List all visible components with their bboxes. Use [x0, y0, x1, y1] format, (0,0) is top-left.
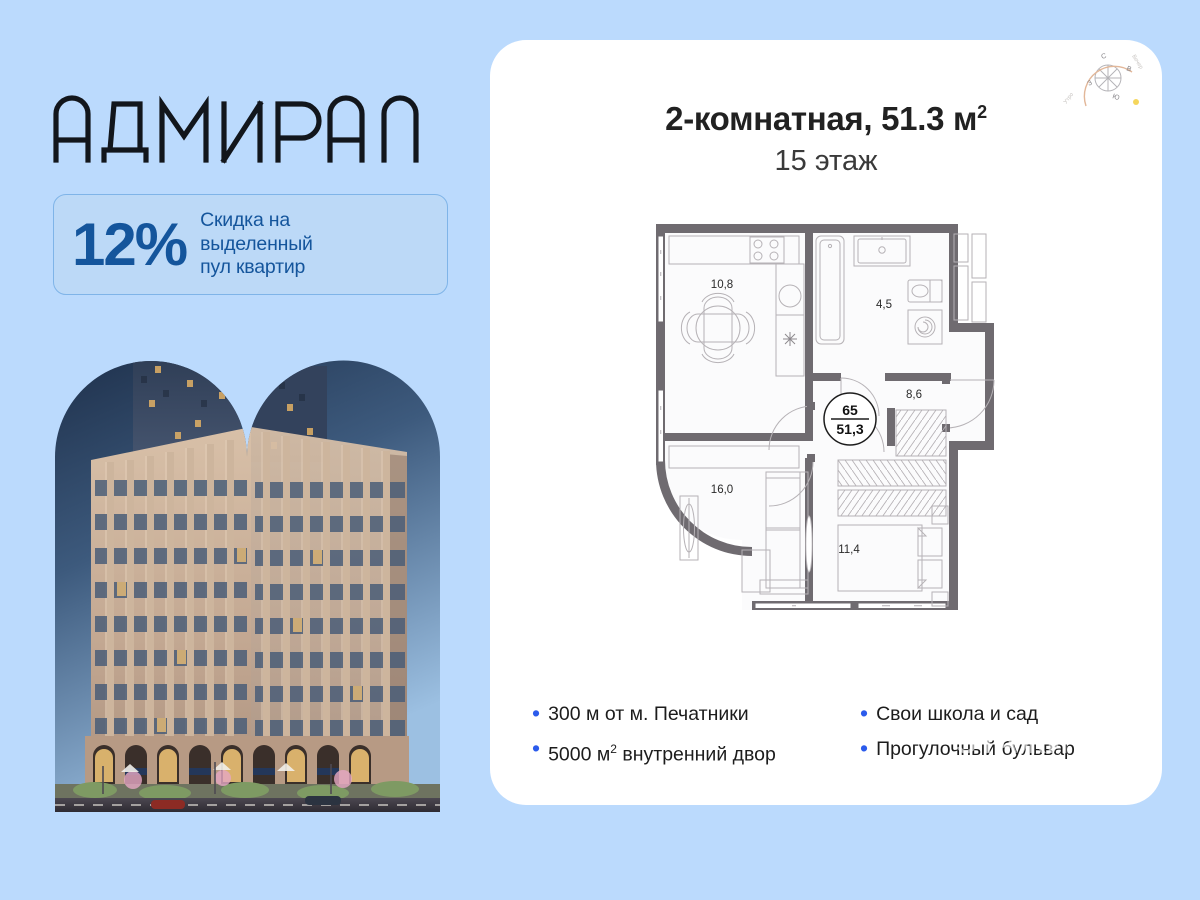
- plan-title-text: 2-комнатная, 51.3 м: [665, 100, 977, 137]
- compass-label-evening: Вечер: [1130, 54, 1143, 71]
- feature-text: 300 м от м. Печатники: [548, 703, 749, 725]
- apartment-badge: 65 51,3: [824, 393, 876, 445]
- bullet-icon: •: [860, 703, 868, 723]
- discount-percent: 12%: [72, 215, 186, 275]
- discount-description: Скидка на выделенный пул квартир: [200, 209, 313, 280]
- discount-line-1: Скидка на: [200, 209, 290, 231]
- room-area-bathroom: 4,5: [876, 299, 892, 311]
- room-area-bedroom: 11,4: [838, 544, 860, 556]
- floorplan-drawing: 10,8 4,5 8,6 16,0 11,4 65 51,3: [642, 210, 1042, 640]
- feature-superscript: 2: [610, 742, 617, 756]
- compass-east: В: [1125, 65, 1132, 73]
- bullet-icon: •: [532, 738, 540, 758]
- feature-suffix: внутренний двор: [617, 743, 776, 765]
- room-area-living: 16,0: [711, 484, 733, 496]
- list-item: • Прогулочный бульвар: [860, 738, 1132, 766]
- features-list: • 300 м от м. Печатники • Свои школа и с…: [532, 703, 1132, 766]
- bullet-icon: •: [532, 703, 540, 723]
- bullet-icon: •: [860, 738, 868, 758]
- discount-badge: 12% Скидка на выделенный пул квартир: [53, 194, 448, 295]
- room-area-kitchen: 10,8: [711, 279, 733, 291]
- feature-text: Прогулочный бульвар: [876, 738, 1075, 760]
- brand-logo: [52, 92, 452, 164]
- list-item: • 5000 м2 внутренний двор: [532, 738, 854, 766]
- discount-line-3: пул квартир: [200, 256, 305, 278]
- feature-text: Свои школа и сад: [876, 703, 1038, 725]
- list-item: • 300 м от м. Печатники: [532, 703, 854, 725]
- page-title: 2-комнатная, 51.3 м2: [490, 100, 1162, 138]
- plan-title-superscript: 2: [977, 102, 987, 122]
- promo-panel: 12% Скидка на выделенный пул квартир: [0, 0, 490, 900]
- floorplan-card: С В Ю З Утро Вечер 2-комнатная, 51.3 м2 …: [490, 40, 1162, 805]
- feature-text: 5000 м: [548, 743, 610, 765]
- discount-line-2: выделенный: [200, 233, 313, 255]
- list-item: • Свои школа и сад: [860, 703, 1132, 725]
- plan-floor-label: 15 этаж: [490, 145, 1162, 178]
- apartment-area: 51,3: [836, 421, 863, 437]
- room-area-hall: 8,6: [906, 389, 922, 401]
- compass-west: З: [1087, 80, 1094, 88]
- building-render-image: [55, 332, 440, 812]
- compass-north: С: [1100, 53, 1107, 61]
- apartment-number: 65: [842, 402, 858, 418]
